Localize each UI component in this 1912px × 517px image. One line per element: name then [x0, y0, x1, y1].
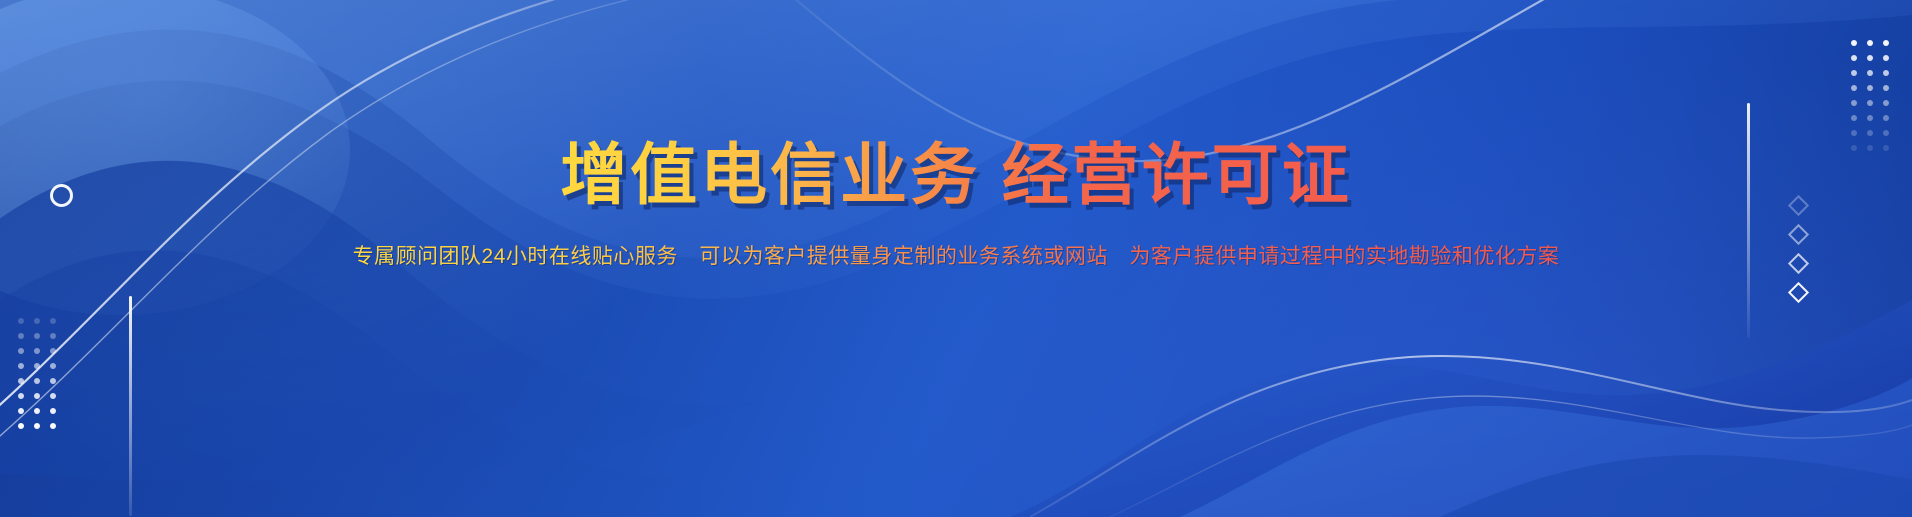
banner-title: 增值电信业务 经营许可证: [560, 139, 1352, 213]
banner-content: 增值电信业务 经营许可证 专属顾问团队24小时在线贴心服务 可以为客户提供量身定…: [0, 0, 1912, 517]
promo-banner: 增值电信业务 经营许可证 专属顾问团队24小时在线贴心服务 可以为客户提供量身定…: [0, 0, 1912, 517]
banner-subtitle: 专属顾问团队24小时在线贴心服务 可以为客户提供量身定制的业务系统或网站 为客户…: [353, 240, 1560, 270]
